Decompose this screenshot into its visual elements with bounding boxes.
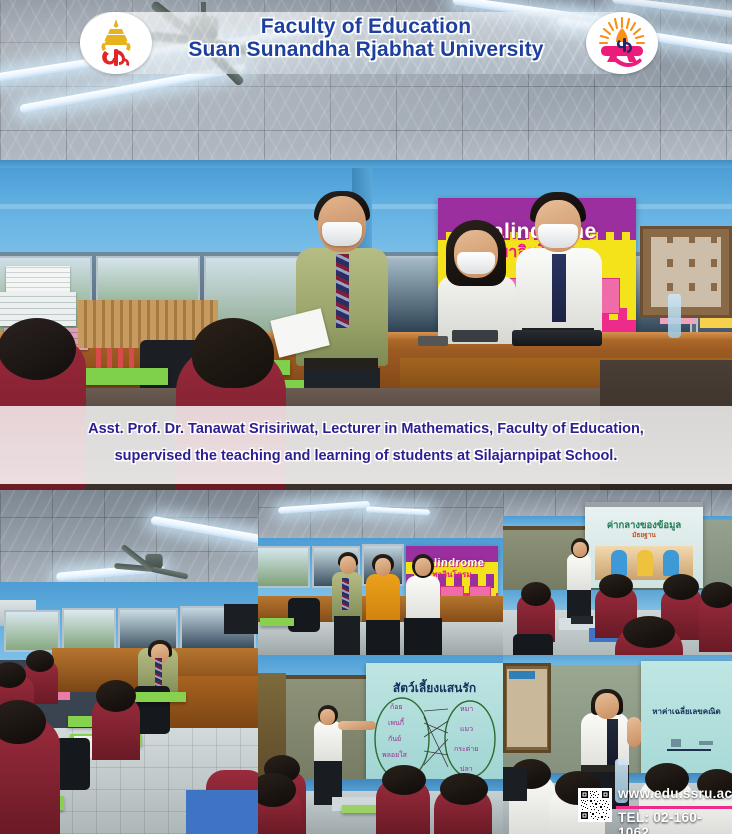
speaker <box>503 767 527 801</box>
desk-object <box>418 336 448 346</box>
green-desk <box>72 368 168 385</box>
navy-necktie <box>552 254 566 322</box>
ceiling <box>258 490 503 542</box>
hair <box>521 582 551 606</box>
poster-page: Palindrome พาลินโดรม <box>0 0 732 834</box>
photo-teacher-with-colleagues: Palindrome พาลินโดรม <box>258 490 503 655</box>
faculty-of-education-logo <box>586 12 658 74</box>
page-header-bar: Faculty of Education Suan Sunandha Rjabh… <box>80 12 652 74</box>
header-title-block: Faculty of Education Suan Sunandha Rjabh… <box>80 12 652 61</box>
svg-text:แมว: แมว <box>460 725 473 733</box>
formula-symbol <box>699 741 713 745</box>
male-student-figure <box>516 198 602 348</box>
cartoon-child <box>611 550 627 576</box>
cork-board <box>640 226 732 318</box>
classroom-chair <box>288 598 320 632</box>
photo-student-teacher-presenting: ค่ากลางของข้อมูล มัธยฐาน <box>503 490 732 655</box>
qr-code[interactable] <box>578 788 612 822</box>
head <box>320 709 335 725</box>
female-student-figure <box>440 224 514 344</box>
photo-students-working-at-desks <box>0 490 258 834</box>
hair <box>599 574 633 598</box>
projector-screen: หาค่าเฉลี่ยเลขคณิต <box>641 661 732 779</box>
hair <box>382 765 426 795</box>
footer-contact: www.edu.ssru.ac.th TEL: 02-160-1062 <box>576 786 732 834</box>
hair <box>0 318 76 380</box>
head <box>375 558 391 576</box>
caption-line2: supervised the teaching and learning of … <box>0 443 732 470</box>
svg-text:กันย์: กันย์ <box>388 735 401 743</box>
svg-text:ปลา: ปลา <box>460 765 473 773</box>
head <box>573 542 587 557</box>
photo-mapping-diagram-lesson: สัตว์เลี้ยงแสนรัก ก้อย เพนกี้ <box>258 655 503 834</box>
header-title-line1: Faculty of Education <box>80 16 652 39</box>
projector-screen: สัตว์เลี้ยงแสนรัก ก้อย เพนกี้ <box>366 663 503 787</box>
window-pane <box>62 608 116 652</box>
screen-roller <box>585 502 703 507</box>
striped-necktie <box>155 658 162 688</box>
head <box>595 693 619 719</box>
skirt <box>404 618 442 655</box>
fan-blade <box>150 566 189 579</box>
svg-text:กระต่าย: กระต่าย <box>454 745 478 753</box>
laptop <box>512 330 602 346</box>
svg-text:พลอยใส: พลอยใส <box>382 750 408 759</box>
svg-text:เพนกี้: เพนกี้ <box>388 716 405 727</box>
blue-mat <box>186 790 258 834</box>
hair <box>663 574 699 600</box>
pointing-arm <box>338 721 376 730</box>
hair <box>192 318 274 388</box>
header-title-line2: Suan Sunandha Rjabhat University <box>80 39 652 62</box>
green-desk <box>260 618 294 626</box>
green-desk <box>128 692 186 702</box>
photo-grid: Palindrome พาลินโดรม <box>0 490 732 834</box>
face-mask <box>538 224 578 248</box>
monitor <box>224 604 258 634</box>
face-mask <box>322 222 362 246</box>
teacher-belt <box>304 358 378 370</box>
hair <box>623 616 675 648</box>
face-mask <box>457 252 495 274</box>
slide-subtitle: มัธยฐาน <box>585 530 703 540</box>
classroom-chair <box>513 634 553 655</box>
caption-text: Asst. Prof. Dr. Tanawat Srisiriwat, Lect… <box>0 406 732 470</box>
colleague-orange-top <box>366 574 400 626</box>
paper-stack <box>6 266 70 292</box>
svg-text:ก้อย: ก้อย <box>390 703 403 711</box>
svg-text:หมา: หมา <box>460 705 473 713</box>
cartoon-child <box>637 550 653 576</box>
window-pane <box>4 610 60 652</box>
classroom-chair <box>56 738 90 790</box>
ssru-crown-logo <box>80 12 152 74</box>
teacher-figure <box>296 196 388 392</box>
hair <box>26 650 54 672</box>
striped-necktie <box>336 254 349 328</box>
skirt <box>366 620 400 655</box>
board-label <box>509 671 535 679</box>
trousers <box>334 616 360 655</box>
hair <box>96 680 136 712</box>
desk-object <box>452 330 498 342</box>
telephone-number: TEL: 02-160-1062 <box>618 810 732 834</box>
board-surface <box>507 669 547 747</box>
caption-band: Asst. Prof. Dr. Tanawat Srisiriwat, Lect… <box>0 406 732 484</box>
water-bottle <box>668 294 681 338</box>
caption-line1: Asst. Prof. Dr. Tanawat Srisiriwat, Lect… <box>0 416 732 443</box>
raised-arm <box>627 717 641 747</box>
footer-divider <box>616 806 732 809</box>
head <box>415 558 431 576</box>
cartoon-child <box>663 550 679 576</box>
striped-necktie <box>342 578 349 610</box>
laptop <box>571 616 593 624</box>
slide-title: หาค่าเฉลี่ยเลขคณิต <box>641 705 732 718</box>
student-teacher-shirt <box>567 554 591 594</box>
formula-bar <box>667 749 711 751</box>
hair <box>440 773 488 805</box>
student-uniform-shirt <box>406 576 440 624</box>
head <box>340 556 356 574</box>
website-url[interactable]: www.edu.ssru.ac.th <box>618 786 732 801</box>
window-pane <box>258 546 310 588</box>
formula-symbol <box>671 739 681 747</box>
hair <box>701 582 732 608</box>
